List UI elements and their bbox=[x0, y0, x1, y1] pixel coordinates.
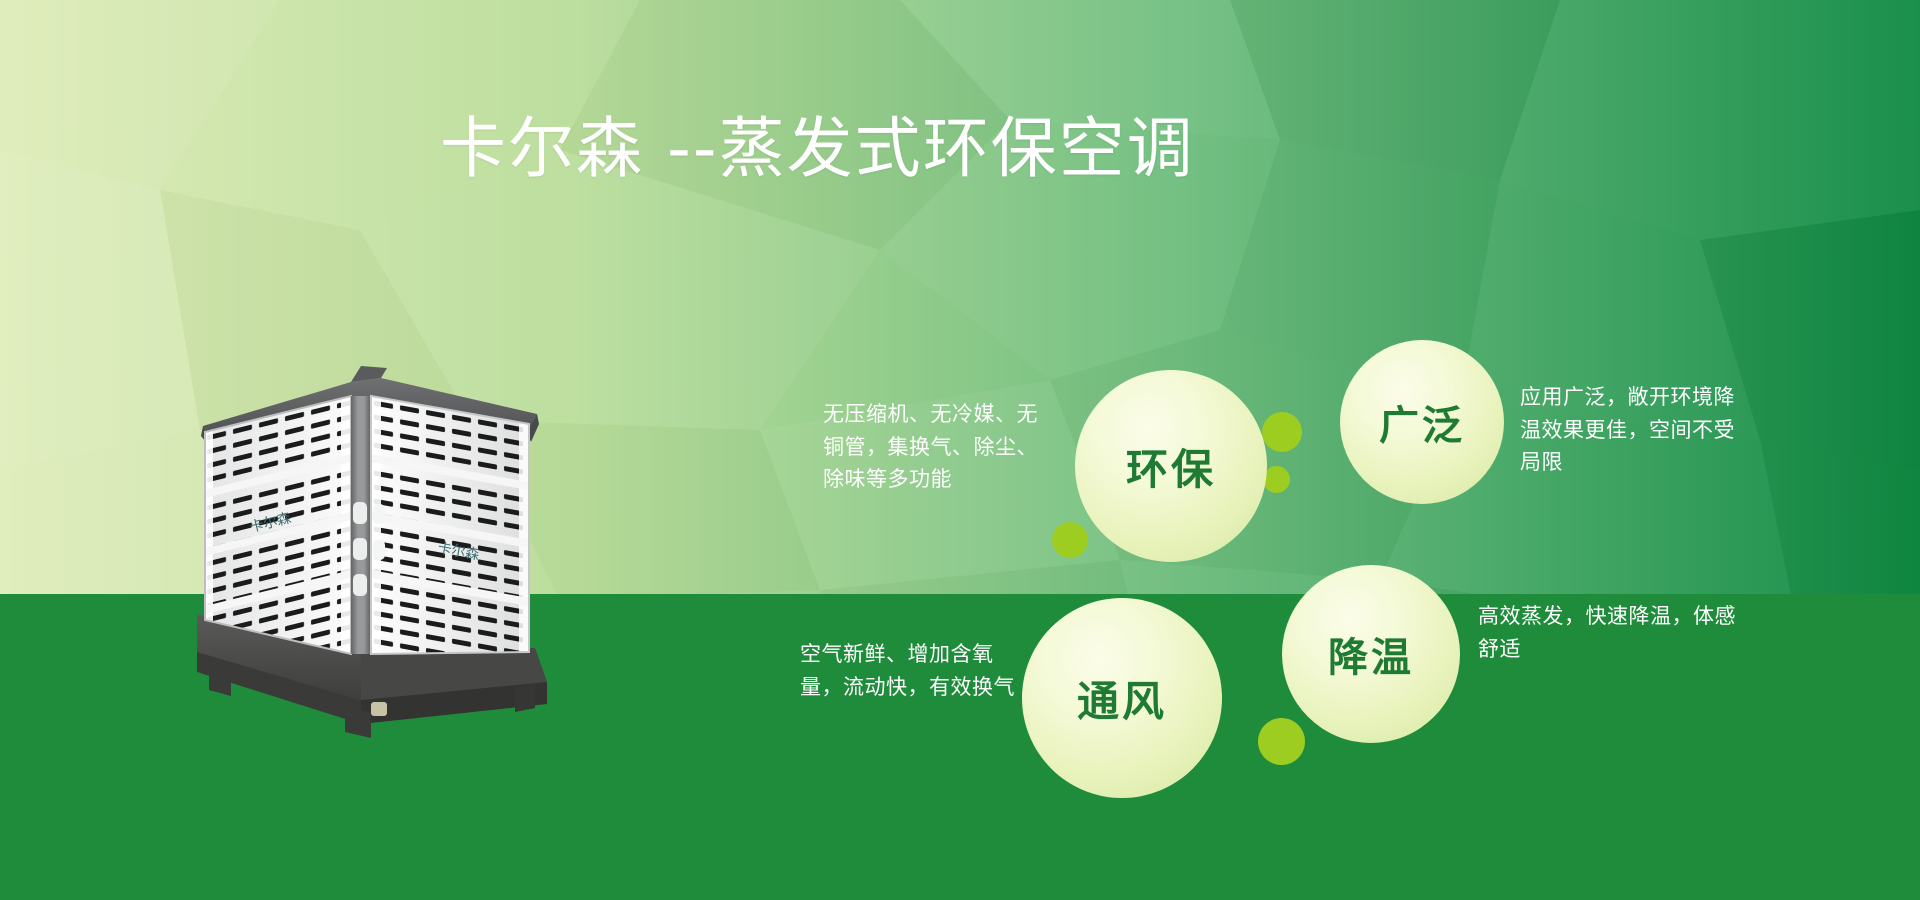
feature-bubble-tongfeng: 通风 bbox=[1022, 598, 1222, 798]
feature-bubble-huanbao: 环保 bbox=[1075, 370, 1267, 562]
feature-description-jiangwen: 高效蒸发，快速降温，体感舒适 bbox=[1478, 600, 1738, 665]
product-image: 卡尔森 卡尔森 bbox=[175, 352, 675, 752]
accent-dot bbox=[1258, 718, 1305, 765]
page-title: 卡尔森 --蒸发式环保空调 bbox=[440, 112, 1340, 186]
feature-description-huanbao: 无压缩机、无冷媒、无铜管，集换气、除尘、除味等多功能 bbox=[823, 398, 1058, 496]
feature-description-guangfan: 应用广泛，敞开环境降温效果更佳，空间不受局限 bbox=[1520, 381, 1755, 479]
accent-dot bbox=[1052, 522, 1088, 558]
feature-bubble-guangfan: 广泛 bbox=[1340, 340, 1504, 504]
feature-bubble-jiangwen: 降温 bbox=[1282, 565, 1460, 743]
promotional-banner: 卡尔森 --蒸发式环保空调 bbox=[0, 0, 1920, 900]
accent-dot bbox=[1263, 466, 1290, 493]
feature-description-tongfeng: 空气新鲜、增加含氧量，流动快，有效换气 bbox=[800, 638, 1015, 703]
accent-dot bbox=[1262, 412, 1302, 452]
